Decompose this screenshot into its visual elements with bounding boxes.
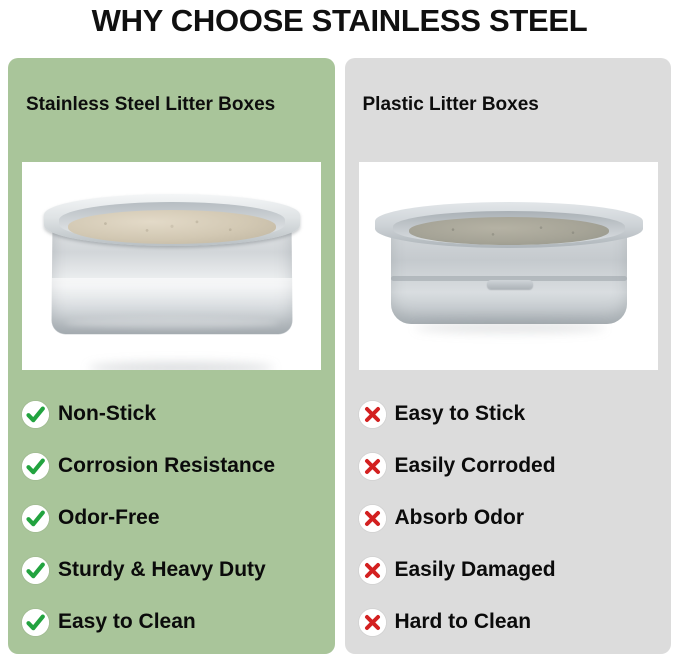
cross-icon <box>359 401 386 428</box>
cross-icon <box>359 505 386 532</box>
list-item: Easily Damaged <box>359 544 664 596</box>
plastic-box-illustration <box>375 202 643 336</box>
stainless-steel-litter-box-photo <box>22 162 321 370</box>
panel-title-plastic: Plastic Litter Boxes <box>363 94 539 116</box>
plastic-box-shadow <box>415 322 605 333</box>
list-item-label: Easy to Stick <box>395 402 526 426</box>
plastic-box-litter-fill <box>409 217 609 245</box>
steel-box-shadow <box>88 362 274 370</box>
check-icon <box>22 505 49 532</box>
steel-box-front-shading <box>52 278 292 334</box>
panel-stainless-steel: Stainless Steel Litter Boxes <box>8 58 335 654</box>
comparison-infographic: WHY CHOOSE STAINLESS STEEL Stainless Ste… <box>0 0 679 660</box>
cross-icon <box>359 453 386 480</box>
list-item-label: Corrosion Resistance <box>58 454 275 478</box>
list-item: Easy to Stick <box>359 388 664 440</box>
list-item-label: Sturdy & Heavy Duty <box>58 558 266 582</box>
check-icon <box>22 557 49 584</box>
panel-plastic: Plastic Litter Boxes <box>345 58 672 654</box>
page-title: WHY CHOOSE STAINLESS STEEL <box>0 2 679 40</box>
comparison-columns: Stainless Steel Litter Boxes <box>8 58 671 654</box>
list-item: Easy to Clean <box>22 596 327 648</box>
plastic-box-handle <box>487 280 533 289</box>
check-icon <box>22 609 49 636</box>
list-item: Sturdy & Heavy Duty <box>22 544 327 596</box>
list-item-label: Easily Damaged <box>395 558 556 582</box>
cross-icon <box>359 557 386 584</box>
list-item: Non-Stick <box>22 388 327 440</box>
stainless-steel-box-illustration <box>44 190 300 342</box>
list-item-label: Odor-Free <box>58 506 160 530</box>
check-icon <box>22 453 49 480</box>
check-icon <box>22 401 49 428</box>
feature-list-plastic: Easy to Stick Easily Corroded <box>359 388 664 648</box>
plastic-litter-box-photo <box>359 162 658 370</box>
list-item-label: Easily Corroded <box>395 454 556 478</box>
list-item-label: Easy to Clean <box>58 610 196 634</box>
feature-list-stainless-steel: Non-Stick Corrosion Resistance <box>22 388 327 648</box>
list-item: Absorb Odor <box>359 492 664 544</box>
panel-title-stainless-steel: Stainless Steel Litter Boxes <box>26 94 275 116</box>
list-item: Hard to Clean <box>359 596 664 648</box>
steel-box-litter-fill <box>68 210 276 244</box>
list-item-label: Non-Stick <box>58 402 156 426</box>
list-item-label: Absorb Odor <box>395 506 525 530</box>
list-item: Easily Corroded <box>359 440 664 492</box>
list-item: Odor-Free <box>22 492 327 544</box>
list-item-label: Hard to Clean <box>395 610 532 634</box>
list-item: Corrosion Resistance <box>22 440 327 492</box>
cross-icon <box>359 609 386 636</box>
